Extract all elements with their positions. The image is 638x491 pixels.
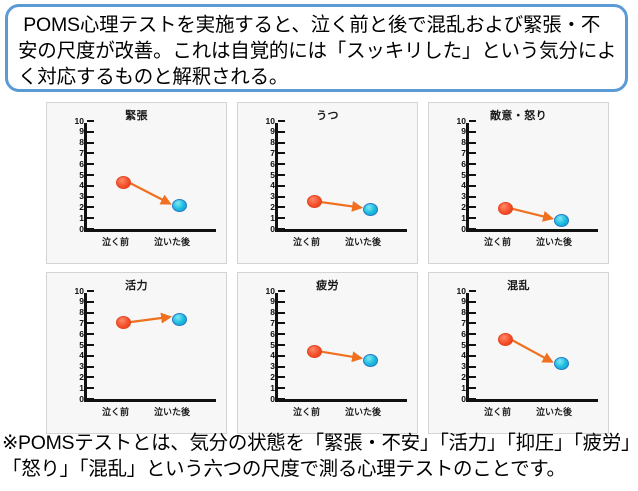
y-axis-tick-label: 0 xyxy=(62,395,84,403)
y-axis-tick xyxy=(87,387,94,389)
y-axis-tick-label: 3 xyxy=(444,192,466,200)
data-point-after xyxy=(363,354,378,367)
y-axis-tick-label: 5 xyxy=(444,341,466,349)
y-axis-tick xyxy=(278,217,285,219)
y-axis-tick xyxy=(278,152,285,154)
y-axis-tick-label: 3 xyxy=(444,362,466,370)
x-axis-label-after: 泣いた後 xyxy=(345,235,381,248)
y-axis-tick xyxy=(87,196,94,198)
y-axis-tick xyxy=(469,290,476,292)
headline-text: POMS心理テストを実施すると、泣く前と後で混乱および緊張・不安の尺度が改善。こ… xyxy=(18,13,617,91)
y-axis-tick-label: 8 xyxy=(62,308,84,316)
y-axis-tick xyxy=(278,312,285,314)
y-axis-line xyxy=(275,123,278,231)
y-axis-tick-label: 4 xyxy=(62,351,84,359)
y-axis-tick-label: 0 xyxy=(444,395,466,403)
y-axis-tick xyxy=(87,398,94,400)
y-axis-tick xyxy=(87,290,94,292)
y-axis-tick xyxy=(87,163,94,165)
x-axis-line xyxy=(275,229,407,232)
y-axis-tick-label: 7 xyxy=(444,319,466,327)
y-axis-tick-label: 9 xyxy=(62,127,84,135)
y-axis-tick-label: 6 xyxy=(62,330,84,338)
y-axis-tick-label: 8 xyxy=(444,138,466,146)
y-axis-tick xyxy=(87,322,94,324)
y-axis-tick-label: 10 xyxy=(444,117,466,125)
chart-panel-confusion: 混乱109876543210泣く前泣いた後 xyxy=(428,272,609,434)
y-axis-tick xyxy=(87,217,94,219)
y-axis-line xyxy=(84,123,87,231)
y-axis-tick xyxy=(278,355,285,357)
y-axis-tick-label: 4 xyxy=(253,181,275,189)
y-axis-tick-label: 6 xyxy=(62,160,84,168)
data-point-before xyxy=(307,195,322,208)
plot-area: 109876543210泣く前泣いた後 xyxy=(438,123,606,241)
y-axis-tick xyxy=(278,142,285,144)
y-axis-tick xyxy=(469,196,476,198)
y-axis-tick-label: 1 xyxy=(62,384,84,392)
y-axis-tick xyxy=(87,301,94,303)
y-axis-tick xyxy=(87,185,94,187)
y-axis-tick xyxy=(469,398,476,400)
y-axis-tick-label: 6 xyxy=(444,330,466,338)
y-axis-line xyxy=(275,293,278,401)
y-axis-tick-label: 5 xyxy=(253,171,275,179)
y-axis-tick-label: 10 xyxy=(62,117,84,125)
x-axis-line xyxy=(84,229,216,232)
data-point-after xyxy=(363,203,378,216)
y-axis-tick-label: 9 xyxy=(444,127,466,135)
y-axis-tick xyxy=(469,301,476,303)
y-axis-line xyxy=(466,123,469,231)
data-point-after xyxy=(172,313,187,326)
y-axis-tick-label: 9 xyxy=(444,297,466,305)
data-point-before xyxy=(498,202,513,215)
y-axis-tick-label: 2 xyxy=(444,373,466,381)
y-axis-tick-label: 10 xyxy=(62,287,84,295)
y-axis-tick-label: 1 xyxy=(444,214,466,222)
y-axis-tick xyxy=(87,206,94,208)
y-axis-tick xyxy=(278,228,285,230)
y-axis-tick xyxy=(469,206,476,208)
y-axis-tick xyxy=(469,322,476,324)
y-axis-tick-label: 6 xyxy=(444,160,466,168)
y-axis-tick xyxy=(87,355,94,357)
y-axis-tick xyxy=(278,206,285,208)
y-axis-tick xyxy=(87,142,94,144)
chart-panel-tension: 緊張109876543210泣く前泣いた後 xyxy=(46,102,227,264)
x-axis-label-before: 泣く前 xyxy=(293,235,320,248)
y-axis-tick xyxy=(87,120,94,122)
y-axis-tick-label: 10 xyxy=(444,287,466,295)
chart-grid: 緊張109876543210泣く前泣いた後 うつ109876543210泣く前泣… xyxy=(46,102,610,432)
headline-callout-box: POMS心理テストを実施すると、泣く前と後で混乱および緊張・不安の尺度が改善。こ… xyxy=(5,4,628,92)
y-axis-tick xyxy=(278,185,285,187)
x-axis-line xyxy=(466,399,598,402)
y-axis-line xyxy=(466,293,469,401)
x-axis-label-before: 泣く前 xyxy=(102,405,129,418)
y-axis-tick-label: 2 xyxy=(62,203,84,211)
x-axis-label-after: 泣いた後 xyxy=(536,235,572,248)
y-axis-tick-label: 8 xyxy=(253,308,275,316)
y-axis-tick-label: 7 xyxy=(253,149,275,157)
y-axis-tick-label: 9 xyxy=(253,127,275,135)
x-axis-label-after: 泣いた後 xyxy=(154,235,190,248)
y-axis-tick-label: 10 xyxy=(253,117,275,125)
y-axis-tick xyxy=(469,185,476,187)
y-axis-tick xyxy=(469,163,476,165)
x-axis-line xyxy=(275,399,407,402)
data-point-before xyxy=(116,176,131,189)
y-axis-tick xyxy=(469,120,476,122)
y-axis-tick-label: 4 xyxy=(62,181,84,189)
y-axis-tick-label: 0 xyxy=(253,395,275,403)
y-axis-tick-label: 2 xyxy=(444,203,466,211)
y-axis-tick xyxy=(278,398,285,400)
y-axis-tick xyxy=(87,333,94,335)
y-axis-tick xyxy=(469,355,476,357)
y-axis-tick-label: 2 xyxy=(253,203,275,211)
y-axis-tick xyxy=(278,131,285,133)
y-axis-tick xyxy=(278,174,285,176)
y-axis-tick xyxy=(469,376,476,378)
y-axis-tick-label: 7 xyxy=(444,149,466,157)
x-axis-label-after: 泣いた後 xyxy=(154,405,190,418)
y-axis-tick-label: 7 xyxy=(62,149,84,157)
y-axis-tick xyxy=(469,228,476,230)
y-axis-tick xyxy=(278,376,285,378)
y-axis-tick-label: 1 xyxy=(253,384,275,392)
y-axis-tick-label: 1 xyxy=(444,384,466,392)
y-axis-tick-label: 0 xyxy=(62,225,84,233)
y-axis-tick xyxy=(87,376,94,378)
data-point-after xyxy=(172,199,187,212)
chart-panel-depression: うつ109876543210泣く前泣いた後 xyxy=(237,102,418,264)
y-axis-tick xyxy=(87,366,94,368)
chart-row-top: 緊張109876543210泣く前泣いた後 うつ109876543210泣く前泣… xyxy=(46,102,610,264)
data-point-before xyxy=(307,345,322,358)
y-axis-tick xyxy=(469,312,476,314)
x-axis-label-before: 泣く前 xyxy=(484,405,511,418)
plot-area: 109876543210泣く前泣いた後 xyxy=(56,123,224,241)
data-point-after xyxy=(554,357,569,370)
data-point-after xyxy=(554,214,569,227)
y-axis-tick-label: 9 xyxy=(62,297,84,305)
x-axis-label-after: 泣いた後 xyxy=(536,405,572,418)
plot-area: 109876543210泣く前泣いた後 xyxy=(247,293,415,411)
y-axis-tick-label: 10 xyxy=(253,287,275,295)
y-axis-tick xyxy=(469,217,476,219)
y-axis-tick-label: 8 xyxy=(62,138,84,146)
y-axis-tick-label: 4 xyxy=(253,351,275,359)
y-axis-tick-label: 3 xyxy=(62,362,84,370)
y-axis-tick xyxy=(87,152,94,154)
plot-area: 109876543210泣く前泣いた後 xyxy=(438,293,606,411)
x-axis-line xyxy=(466,229,598,232)
x-axis-label-after: 泣いた後 xyxy=(345,405,381,418)
y-axis-tick-label: 0 xyxy=(444,225,466,233)
y-axis-tick xyxy=(87,174,94,176)
y-axis-tick xyxy=(278,163,285,165)
plot-area: 109876543210泣く前泣いた後 xyxy=(56,293,224,411)
y-axis-tick-label: 3 xyxy=(62,192,84,200)
y-axis-tick-label: 7 xyxy=(253,319,275,327)
y-axis-tick xyxy=(469,131,476,133)
y-axis-tick xyxy=(469,344,476,346)
y-axis-tick-label: 2 xyxy=(62,373,84,381)
y-axis-tick-label: 8 xyxy=(444,308,466,316)
data-point-before xyxy=(116,316,131,329)
y-axis-tick-label: 9 xyxy=(253,297,275,305)
x-axis-line xyxy=(84,399,216,402)
y-axis-tick xyxy=(87,131,94,133)
y-axis-tick-label: 0 xyxy=(253,225,275,233)
x-axis-label-before: 泣く前 xyxy=(102,235,129,248)
footnote-text: ※POMSテストとは、気分の状態を「緊張・不安」「活力」「抑圧」「疲労」「怒り」… xyxy=(2,430,636,483)
y-axis-tick xyxy=(469,387,476,389)
plot-area: 109876543210泣く前泣いた後 xyxy=(247,123,415,241)
y-axis-tick xyxy=(469,366,476,368)
y-axis-tick xyxy=(469,152,476,154)
y-axis-tick-label: 3 xyxy=(253,192,275,200)
y-axis-tick xyxy=(278,301,285,303)
chart-panel-hostility-anger: 敵意・怒り109876543210泣く前泣いた後 xyxy=(428,102,609,264)
y-axis-tick-label: 1 xyxy=(62,214,84,222)
y-axis-tick-label: 5 xyxy=(444,171,466,179)
data-point-before xyxy=(498,333,513,346)
y-axis-tick xyxy=(469,142,476,144)
y-axis-tick xyxy=(87,312,94,314)
y-axis-tick-label: 2 xyxy=(253,373,275,381)
y-axis-tick xyxy=(278,333,285,335)
y-axis-tick xyxy=(469,174,476,176)
y-axis-tick xyxy=(278,290,285,292)
y-axis-tick-label: 7 xyxy=(62,319,84,327)
y-axis-tick-label: 6 xyxy=(253,330,275,338)
y-axis-line xyxy=(84,293,87,401)
y-axis-tick-label: 8 xyxy=(253,138,275,146)
y-axis-tick-label: 4 xyxy=(444,351,466,359)
y-axis-tick xyxy=(87,344,94,346)
y-axis-tick xyxy=(278,344,285,346)
y-axis-tick-label: 4 xyxy=(444,181,466,189)
y-axis-tick xyxy=(278,387,285,389)
y-axis-tick-label: 5 xyxy=(62,171,84,179)
y-axis-tick-label: 1 xyxy=(253,214,275,222)
chart-panel-vigor: 活力109876543210泣く前泣いた後 xyxy=(46,272,227,434)
y-axis-tick xyxy=(469,333,476,335)
x-axis-label-before: 泣く前 xyxy=(484,235,511,248)
y-axis-tick xyxy=(278,120,285,122)
chart-row-bottom: 活力109876543210泣く前泣いた後 疲労109876543210泣く前泣… xyxy=(46,272,610,434)
y-axis-tick-label: 5 xyxy=(253,341,275,349)
y-axis-tick-label: 3 xyxy=(253,362,275,370)
y-axis-tick-label: 5 xyxy=(62,341,84,349)
y-axis-tick-label: 6 xyxy=(253,160,275,168)
x-axis-label-before: 泣く前 xyxy=(293,405,320,418)
y-axis-tick xyxy=(278,322,285,324)
y-axis-tick xyxy=(278,196,285,198)
y-axis-tick xyxy=(278,366,285,368)
y-axis-tick xyxy=(87,228,94,230)
chart-panel-fatigue: 疲労109876543210泣く前泣いた後 xyxy=(237,272,418,434)
